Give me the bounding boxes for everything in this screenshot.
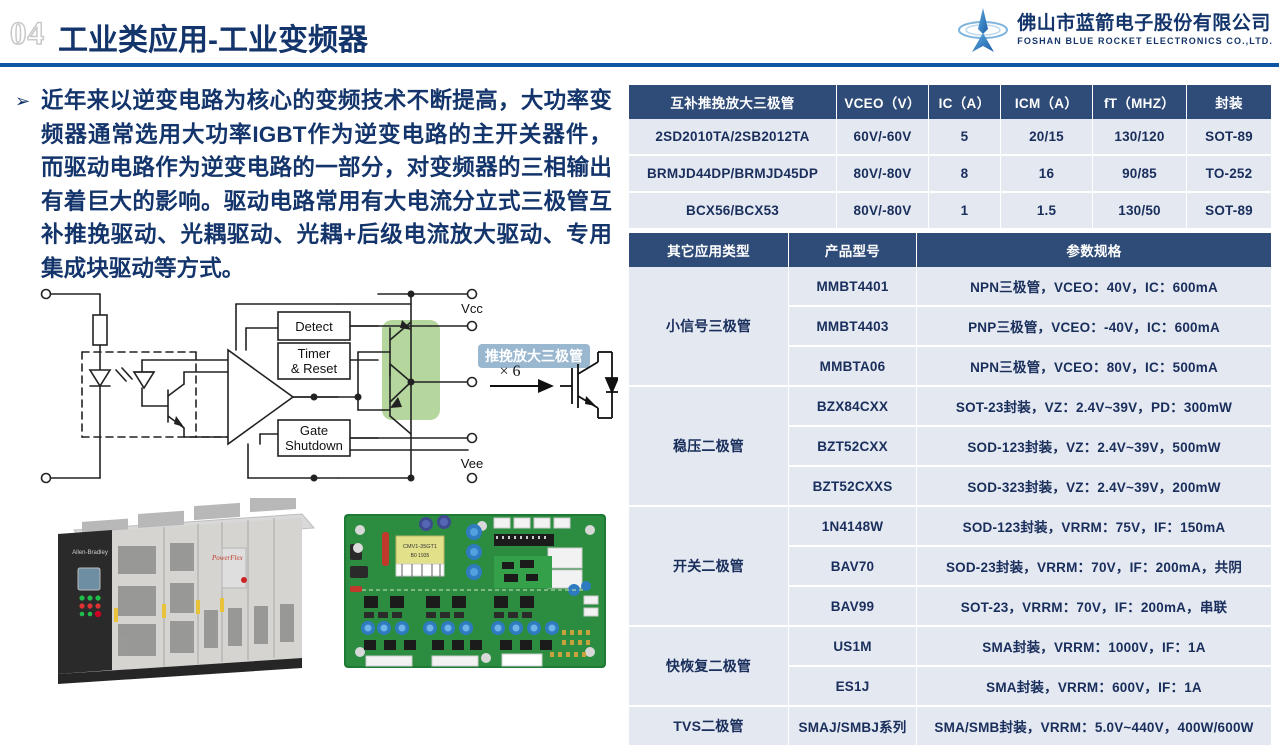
cell-model: BRMJD44DP/BRMJD45DP [629, 156, 837, 193]
cell-package: TO-252 [1187, 156, 1271, 193]
callout-label: 推挽放大三极管 [485, 348, 583, 364]
cell-model: BCX56/BCX53 [629, 193, 837, 230]
company-logo: 佛山市蓝箭电子股份有限公司 FOSHAN BLUE ROCKET ELECTRO… [957, 6, 1273, 54]
block-label-reset: & Reset [291, 361, 338, 376]
cell-model: BZT52CXX [789, 427, 917, 467]
table-row: 小信号三极管 MMBT4401 NPN三极管，VCEO：40V，IC：600mA [629, 267, 1271, 307]
cell-spec: NPN三极管，VCEO：80V，IC：500mA [917, 347, 1271, 387]
cell-spec: SOD-123封装，VZ：2.4V~39V，500mW [917, 427, 1271, 467]
cell-ft: 130/120 [1093, 119, 1187, 156]
slide-header: 04 工业类应用-工业变频器 佛山市蓝箭电子股份有限公司 FOSHAN BLUE… [0, 0, 1279, 66]
cell-model: 1N4148W [789, 507, 917, 547]
table-row: BRMJD44DP/BRMJD45DP 80V/-80V 8 16 90/85 … [629, 156, 1271, 193]
cell-ic: 5 [929, 119, 1001, 156]
cell-model: BZT52CXXS [789, 467, 917, 507]
multiplier-label: × 6 [499, 363, 520, 380]
cell-model: BAV70 [789, 547, 917, 587]
cell-group: 开关二极管 [629, 507, 789, 627]
svg-text:PowerFlex: PowerFlex [211, 554, 244, 562]
table1-col-3: ICM（A） [1001, 85, 1093, 119]
content-paragraph-block: ➢ 近年来以逆变电路为核心的变频技术不断提高，大功率变频器通常选用大功率IGBT… [12, 84, 612, 285]
block-label-shutdown: Shutdown [285, 438, 343, 453]
cell-model: MMBTA06 [789, 347, 917, 387]
cell-ic: 1 [929, 193, 1001, 230]
block-label-timer: Timer [298, 346, 331, 361]
table-row: 2SD2010TA/2SB2012TA 60V/-60V 5 20/15 130… [629, 119, 1271, 156]
terminal-output [468, 378, 477, 387]
cell-model: MMBT4403 [789, 307, 917, 347]
cell-ft: 130/50 [1093, 193, 1187, 230]
other-applications-table: 其它应用类型 产品型号 参数规格 小信号三极管 MMBT4401 NPN三极管，… [629, 233, 1271, 747]
cell-group: 稳压二极管 [629, 387, 789, 507]
igbt-driver-pcb-photo: CMV1-35GT1 B0 1935 [334, 500, 616, 682]
logo-text: 佛山市蓝箭电子股份有限公司 FOSHAN BLUE ROCKET ELECTRO… [1017, 13, 1273, 47]
medium-voltage-drive-cabinet-photo: Allen-Bradley PowerFlex [52, 498, 328, 684]
paragraph-text: 近年来以逆变电路为核心的变频技术不断提高，大功率变频器通常选用大功率IGBT作为… [41, 84, 612, 285]
cell-spec: NPN三极管，VCEO：40V，IC：600mA [917, 267, 1271, 307]
block-label-detect: Detect [295, 319, 333, 334]
table-row: 稳压二极管 BZX84CXX SOT-23封装，VZ：2.4V~39V，PD：3… [629, 387, 1271, 427]
cell-vceo: 60V/-60V [837, 119, 929, 156]
table2-header-row: 其它应用类型 产品型号 参数规格 [629, 233, 1271, 267]
cell-group: TVS二极管 [629, 707, 789, 747]
cell-spec: SOT-23，VRRM：70V，IF：200mA，串联 [917, 587, 1271, 627]
cell-icm: 20/15 [1001, 119, 1093, 156]
cell-spec: SOD-323封装，VZ：2.4V~39V，200mW [917, 467, 1271, 507]
page-title: 工业类应用-工业变频器 [58, 15, 368, 59]
table-row: 快恢复二极管 US1M SMA封装，VRRM：1000V，IF：1A [629, 627, 1271, 667]
cell-model: ES1J [789, 667, 917, 707]
cell-group: 快恢复二极管 [629, 627, 789, 707]
cell-model: MMBT4401 [789, 267, 917, 307]
cell-package: SOT-89 [1187, 119, 1271, 156]
table-row: 开关二极管 1N4148W SOD-123封装，VRRM：75V，IF：150m… [629, 507, 1271, 547]
cell-spec: SMA封装，VRRM：1000V，IF：1A [917, 627, 1271, 667]
complementary-pushpull-transistor-table: 互补推挽放大三极管 VCEO（V） IC（A） ICM（A） fT（MHZ） 封… [629, 85, 1271, 230]
cell-spec: SMA/SMB封装，VRRM：5.0V~440V，400W/600W [917, 707, 1271, 747]
svg-text:B0 1935: B0 1935 [411, 553, 430, 559]
cell-vceo: 80V/-80V [837, 156, 929, 193]
cell-package: SOT-89 [1187, 193, 1271, 230]
cell-model: US1M [789, 627, 917, 667]
table1-col-4: fT（MHZ） [1093, 85, 1187, 119]
cell-group: 小信号三极管 [629, 267, 789, 387]
slide-number: 04 [10, 16, 45, 53]
label-vcc: Vcc [461, 301, 483, 316]
terminal-vee [468, 474, 477, 483]
company-name-en: FOSHAN BLUE ROCKET ELECTRONICS CO.,LTD. [1017, 35, 1273, 47]
table2-col-2: 参数规格 [917, 233, 1271, 267]
cell-model: BAV99 [789, 587, 917, 627]
cell-icm: 1.5 [1001, 193, 1093, 230]
cell-icm: 16 [1001, 156, 1093, 193]
cell-spec: SOD-123封装，VRRM：75V，IF：150mA [917, 507, 1271, 547]
svg-text:Allen-Bradley: Allen-Bradley [72, 550, 108, 556]
cell-model: SMAJ/SMBJ系列 [789, 707, 917, 747]
table1-col-2: IC（A） [929, 85, 1001, 119]
rocket-logo-icon [957, 7, 1009, 53]
header-divider [0, 63, 1279, 67]
table-row: BCX56/BCX53 80V/-80V 1 1.5 130/50 SOT-89 [629, 193, 1271, 230]
cell-ft: 90/85 [1093, 156, 1187, 193]
cell-spec: SOD-23封装，VRRM：70V，IF：200mA，共阴 [917, 547, 1271, 587]
table1-col-5: 封装 [1187, 85, 1271, 119]
cell-spec: PNP三极管，VCEO：-40V，IC：600mA [917, 307, 1271, 347]
driver-circuit-diagram: Detect Timer & Reset Gate Shutdown [38, 282, 618, 492]
table1-header-row: 互补推挽放大三极管 VCEO（V） IC（A） ICM（A） fT（MHZ） 封… [629, 85, 1271, 119]
table-row: TVS二极管 SMAJ/SMBJ系列 SMA/SMB封装，VRRM：5.0V~4… [629, 707, 1271, 747]
cell-ic: 8 [929, 156, 1001, 193]
svg-text:CMV1-35GT1: CMV1-35GT1 [403, 544, 437, 550]
cell-vceo: 80V/-80V [837, 193, 929, 230]
table1-col-0: 互补推挽放大三极管 [629, 85, 837, 119]
table1-col-1: VCEO（V） [837, 85, 929, 119]
cell-spec: SOT-23封装，VZ：2.4V~39V，PD：300mW [917, 387, 1271, 427]
table2-col-1: 产品型号 [789, 233, 917, 267]
cell-model: 2SD2010TA/2SB2012TA [629, 119, 837, 156]
label-vee: Vee [461, 456, 483, 471]
bullet-arrow-icon: ➢ [12, 84, 41, 118]
terminal-vcc [468, 290, 477, 299]
block-label-gate: Gate [300, 423, 328, 438]
company-name-cn: 佛山市蓝箭电子股份有限公司 [1017, 13, 1273, 35]
cell-spec: SMA封装，VRRM：600V，IF：1A [917, 667, 1271, 707]
table2-col-0: 其它应用类型 [629, 233, 789, 267]
cell-model: BZX84CXX [789, 387, 917, 427]
